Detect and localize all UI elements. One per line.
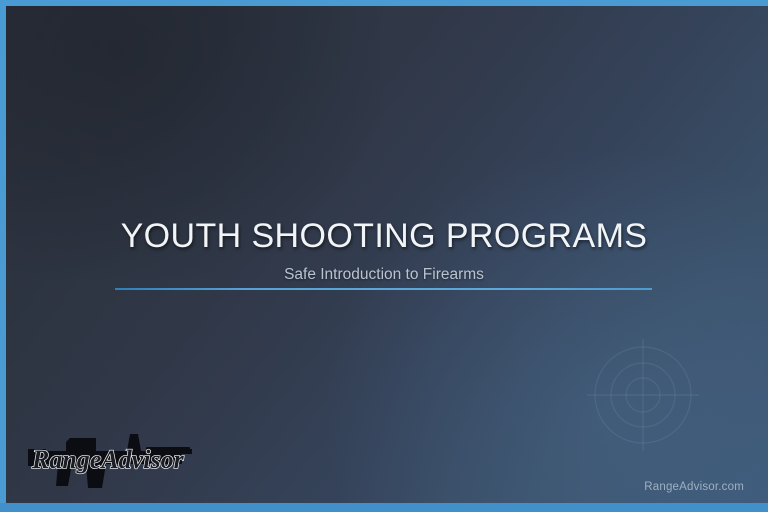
brand-logo: RangeAdvisor <box>26 428 194 492</box>
title-block: YOUTH SHOOTING PROGRAMS Safe Introductio… <box>0 214 768 285</box>
background-sheen-bottom-right <box>328 152 768 512</box>
page-title: YOUTH SHOOTING PROGRAMS <box>0 214 768 258</box>
crosshair-target-icon <box>579 331 707 459</box>
title-divider <box>115 288 652 290</box>
frame-bar-bottom <box>0 503 768 512</box>
title-slide: YOUTH SHOOTING PROGRAMS Safe Introductio… <box>0 0 768 512</box>
frame-bar-left <box>0 0 6 512</box>
page-subtitle: Safe Introduction to Firearms <box>0 265 768 285</box>
footer-url: RangeAdvisor.com <box>644 481 744 493</box>
svg-text:RangeAdvisor: RangeAdvisor <box>31 445 185 474</box>
logo-wordmark: RangeAdvisor <box>31 445 185 474</box>
frame-bar-top <box>0 0 768 6</box>
